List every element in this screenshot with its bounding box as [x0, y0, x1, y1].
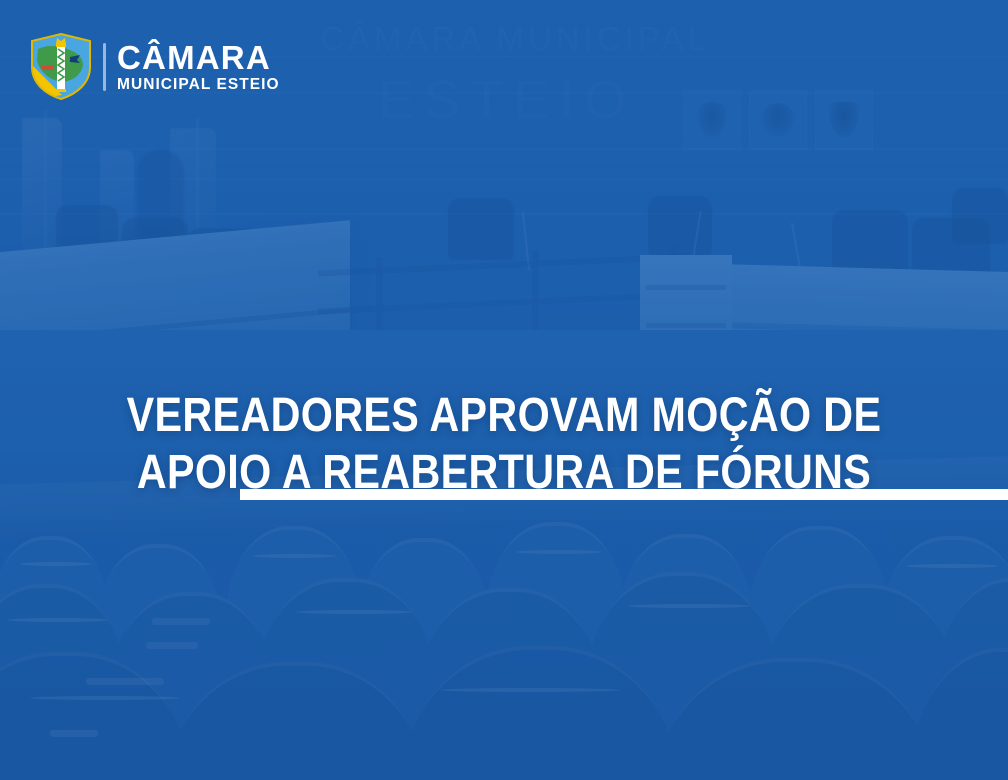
camara-municipal-esteio-logo[interactable]: CÂMARA MUNICIPAL ESTEIO	[30, 33, 280, 100]
white-rule	[240, 489, 1008, 500]
logo-line-municipal-esteio: MUNICIPAL ESTEIO	[117, 77, 280, 93]
news-banner: CÂMARA MUNICIPAL ESTEIO	[0, 0, 1008, 780]
headline-title: VEREADORES APROVAM MOÇÃO DE APOIO A REAB…	[71, 388, 938, 501]
coat-of-arms-shield-icon	[30, 33, 92, 100]
logo-divider	[103, 43, 106, 91]
logo-line-camara: CÂMARA	[117, 41, 280, 74]
logo-wordmark: CÂMARA MUNICIPAL ESTEIO	[117, 41, 280, 93]
